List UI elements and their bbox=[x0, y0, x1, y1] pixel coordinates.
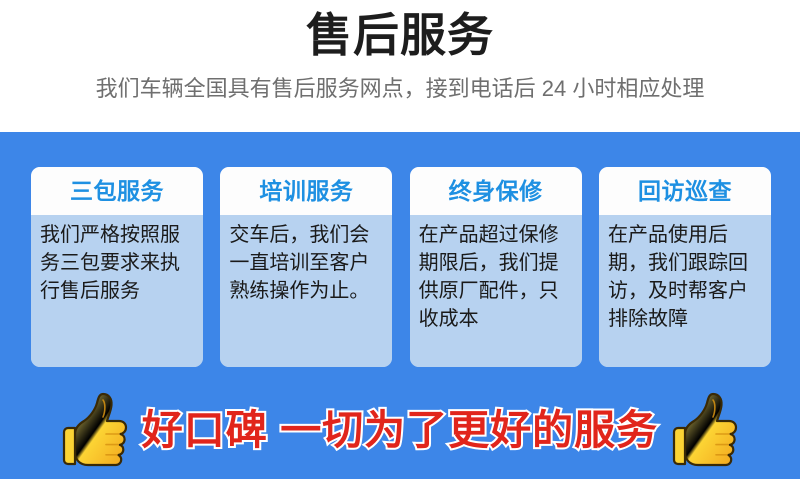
slogan-text: 好口碑 一切为了更好的服务 bbox=[142, 405, 658, 455]
service-card-lifetime-warranty[interactable]: 终身保修 在产品超过保修期限后，我们提供原厂配件，只收成本 bbox=[410, 167, 582, 367]
slogan-banner: 好口碑 一切为了更好的服务 bbox=[0, 380, 800, 479]
service-card-training[interactable]: 培训服务 交车后，我们会一直培训至客户熟练操作为止。 bbox=[220, 167, 392, 367]
thumbs-up-icon bbox=[672, 390, 738, 470]
card-body-text: 我们严格按照服务三包要求来执行售后服务 bbox=[31, 215, 203, 367]
card-body-text: 在产品使用后期，我们跟踪回访，及时帮客户排除故障 bbox=[599, 215, 771, 367]
page-subtitle: 我们车辆全国具有售后服务网点，接到电话后 24 小时相应处理 bbox=[96, 74, 705, 104]
card-header: 回访巡查 bbox=[599, 167, 771, 215]
card-header: 终身保修 bbox=[410, 167, 582, 215]
blue-band: 三包服务 我们严格按照服务三包要求来执行售后服务 培训服务 交车后，我们会一直培… bbox=[0, 132, 800, 479]
card-title: 培训服务 bbox=[259, 178, 353, 204]
card-header: 培训服务 bbox=[220, 167, 392, 215]
service-card-follow-up-inspection[interactable]: 回访巡查 在产品使用后期，我们跟踪回访，及时帮客户排除故障 bbox=[599, 167, 771, 367]
card-body-text: 交车后，我们会一直培训至客户熟练操作为止。 bbox=[220, 215, 392, 367]
after-sales-service-banner: 售后服务 我们车辆全国具有售后服务网点，接到电话后 24 小时相应处理 三包服务… bbox=[0, 0, 800, 479]
thumbs-up-icon bbox=[62, 390, 128, 470]
service-cards-row: 三包服务 我们严格按照服务三包要求来执行售后服务 培训服务 交车后，我们会一直培… bbox=[31, 167, 771, 367]
card-title: 回访巡查 bbox=[638, 178, 732, 204]
card-header: 三包服务 bbox=[31, 167, 203, 215]
card-body-text: 在产品超过保修期限后，我们提供原厂配件，只收成本 bbox=[410, 215, 582, 367]
service-card-three-guarantees[interactable]: 三包服务 我们严格按照服务三包要求来执行售后服务 bbox=[31, 167, 203, 367]
card-title: 三包服务 bbox=[70, 178, 164, 204]
page-title: 售后服务 bbox=[306, 6, 494, 64]
header-section: 售后服务 我们车辆全国具有售后服务网点，接到电话后 24 小时相应处理 bbox=[0, 0, 800, 132]
card-title: 终身保修 bbox=[449, 178, 543, 204]
